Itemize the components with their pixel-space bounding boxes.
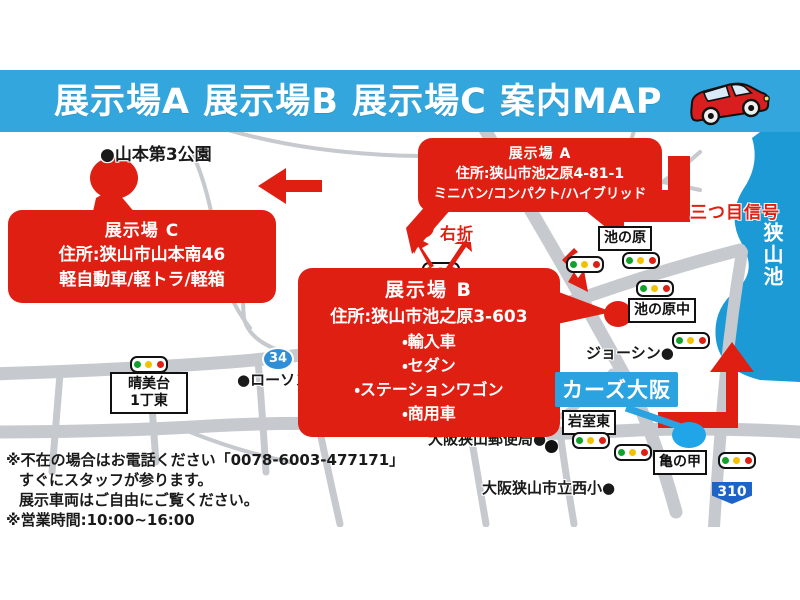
boxlabel-kamenoko: 亀の甲 xyxy=(653,450,707,475)
boxlabel-harumidai-l1: 晴美台 xyxy=(128,376,170,392)
callout-a-address: 住所:狭山市池之原4-81-1 xyxy=(423,164,657,184)
callout-c-title: 展示場 C xyxy=(14,219,270,243)
signal-harumidai xyxy=(130,356,168,373)
callout-a-types: ミニバン/コンパクト/ハイブリッド xyxy=(423,184,657,204)
boxlabel-ikenohara-naka: 池の原中 xyxy=(628,298,696,323)
footer-notes: ※不在の場合はお電話ください「0078-6003-477171」 すぐにスタッフ… xyxy=(6,450,406,530)
label-joshin: ジョーシン● xyxy=(586,342,674,363)
callout-showroom-a: 展示場 A 住所:狭山市池之原4-81-1 ミニバン/コンパクト/ハイブリッド xyxy=(418,138,662,212)
note-line-1: ※不在の場合はお電話ください「0078-6003-477171」 xyxy=(6,450,406,470)
callout-c-address: 住所:狭山市山本南46 xyxy=(14,243,270,268)
signal-kamenoko xyxy=(718,452,756,469)
callout-b-item-1: ・セダン xyxy=(303,354,555,378)
page-title: 展示場A 展示場B 展示場C 案内MAP xyxy=(54,76,674,128)
access-map-page: 展示場A 展示場B 展示場C 案内MAP xyxy=(0,0,800,600)
signal-iwamuro xyxy=(572,432,610,449)
note-line-2: すぐにスタッフが参ります。 xyxy=(6,470,406,490)
signal-ikenohara-naka xyxy=(636,280,674,297)
callout-b-item-0: ・輸入車 xyxy=(303,330,555,354)
callout-b-item-2: ・ステーションワゴン xyxy=(303,378,555,402)
turn-right-annotation: 右折 xyxy=(440,220,474,244)
label-yamamoto-park: ●山本第3公園 xyxy=(100,140,212,165)
dot-post-office-area xyxy=(545,440,558,453)
shop-location-dot xyxy=(672,422,706,448)
signal-joshin xyxy=(672,332,710,349)
callout-a-title: 展示場 A xyxy=(423,145,657,164)
signal-post-office xyxy=(614,444,652,461)
lake-label-sayamaike: 狭山池 xyxy=(760,222,784,288)
red-car-icon xyxy=(678,72,774,128)
note-line-3: 展示車両はご自由にご覧ください。 xyxy=(6,490,406,510)
boxlabel-ikenohara: 池の原 xyxy=(598,226,652,251)
third-signal-annotation: 三つ目信号 xyxy=(690,198,780,223)
callout-b-item-3: ・商用車 xyxy=(303,402,555,426)
callout-showroom-c: 展示場 C 住所:狭山市山本南46 軽自動車/軽トラ/軽箱 xyxy=(8,210,276,303)
label-nishi-elementary: 大阪狭山市立西小● xyxy=(482,477,615,498)
boxlabel-harumidai: 晴美台 1丁東 xyxy=(110,372,188,414)
route-shield-34: 34 xyxy=(262,347,294,371)
signal-west-ikenohara xyxy=(566,256,604,273)
note-line-4: ※営業時間:10:00~16:00 xyxy=(6,510,406,530)
callout-b-title: 展示場 B xyxy=(303,277,555,304)
callout-b-address: 住所:狭山市池之原3-603 xyxy=(303,304,555,330)
callout-c-types: 軽自動車/軽トラ/軽箱 xyxy=(14,268,270,293)
callout-showroom-b: 展示場 B 住所:狭山市池之原3-603 ・輸入車 ・セダン ・ステーションワゴ… xyxy=(298,268,560,437)
boxlabel-harumidai-l2: 1丁東 xyxy=(130,393,168,409)
signal-ikenohara xyxy=(622,252,660,269)
callout-b-pointer xyxy=(548,282,634,330)
shop-label-cars-osaka: カーズ大阪 xyxy=(555,372,678,407)
